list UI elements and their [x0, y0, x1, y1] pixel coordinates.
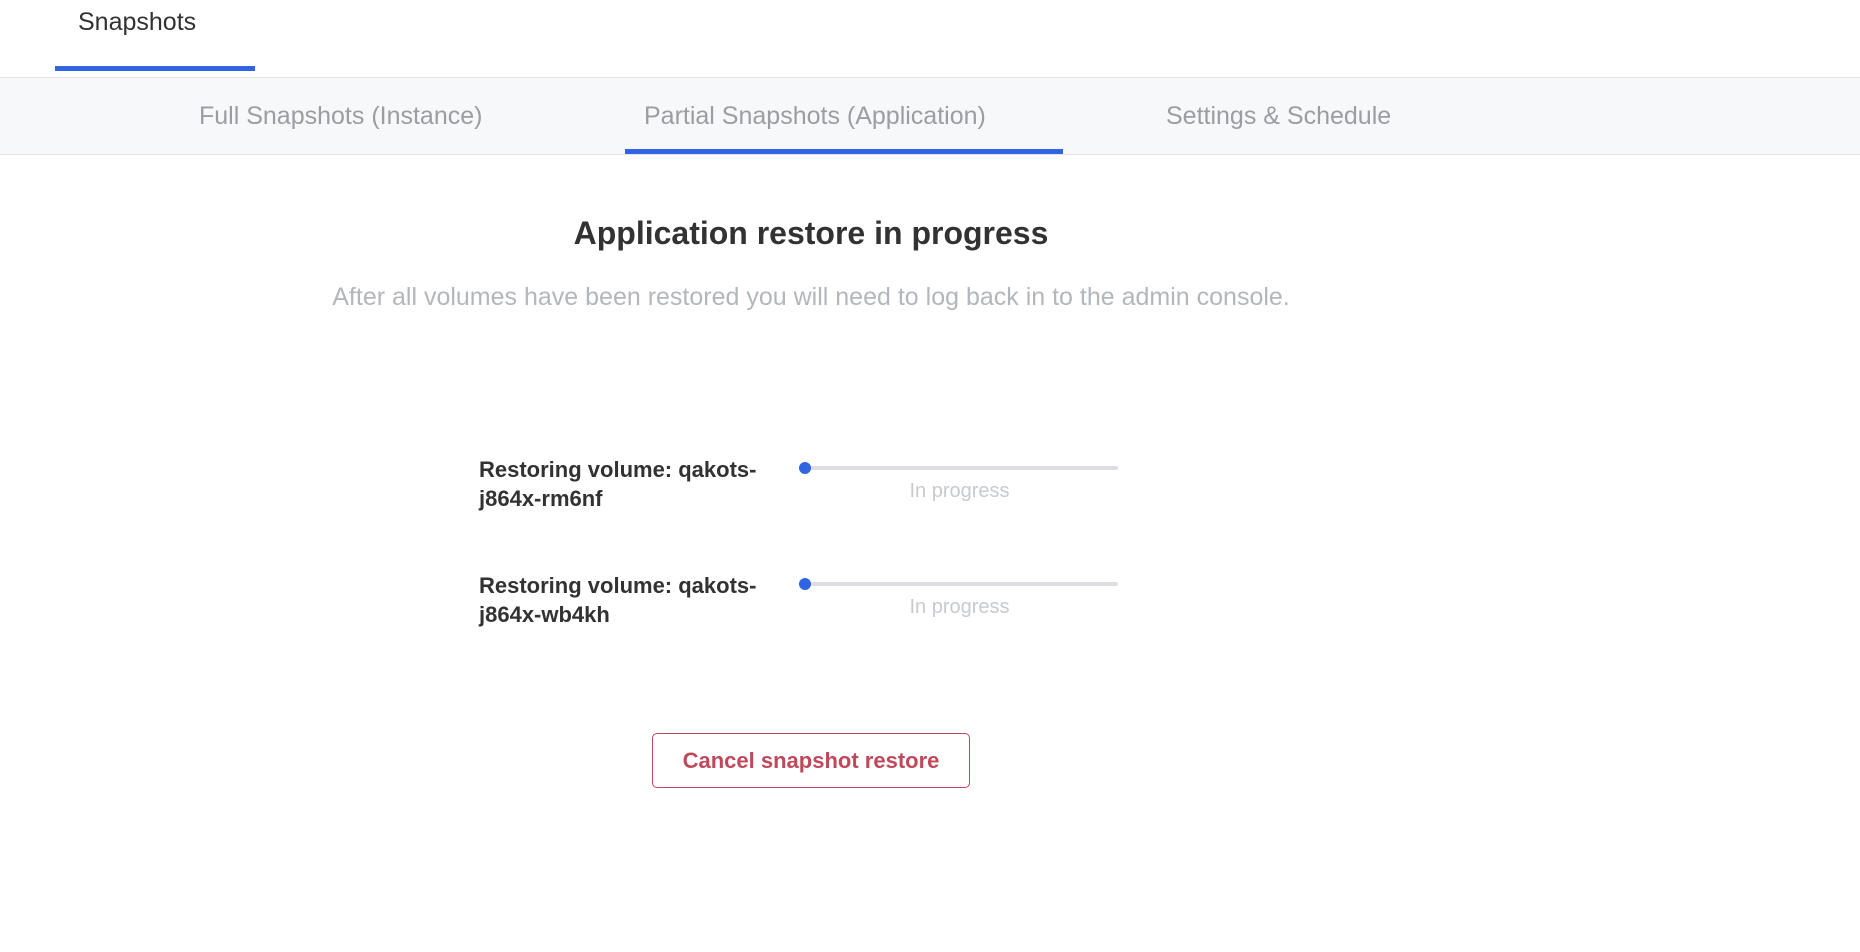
page-subtitle: After all volumes have been restored you… [0, 283, 1622, 312]
app-root: nt Snapshots Full Snapshots (Instance) P… [0, 0, 1860, 952]
subtab-partial-snapshots-application-label: Partial Snapshots (Application) [644, 102, 986, 131]
progress-indicator-dot [799, 578, 811, 590]
restore-volume-row: Restoring volume: qakots-j864x-wb4kh In … [479, 571, 1179, 687]
restore-volume-progress: In progress [801, 455, 1121, 503]
restore-volume-label: Restoring volume: qakots-j864x-wb4kh [479, 571, 799, 629]
progress-track [801, 466, 1118, 470]
cancel-button-wrap: Cancel snapshot restore [0, 733, 1622, 788]
cancel-snapshot-restore-button[interactable]: Cancel snapshot restore [652, 733, 971, 788]
progress-track [801, 582, 1118, 586]
secondary-nav: Full Snapshots (Instance) Partial Snapsh… [0, 78, 1860, 155]
restore-volume-row: Restoring volume: qakots-j864x-rm6nf In … [479, 455, 1179, 571]
progress-indicator-dot [799, 462, 811, 474]
subtab-full-snapshots-instance[interactable]: Full Snapshots (Instance) [199, 78, 482, 154]
restore-volume-label: Restoring volume: qakots-j864x-rm6nf [479, 455, 799, 513]
subtab-full-snapshots-instance-label: Full Snapshots (Instance) [199, 102, 482, 131]
tab-snapshots-label: Snapshots [78, 8, 196, 37]
page-title: Application restore in progress [0, 215, 1622, 252]
primary-nav: nt Snapshots [0, 0, 1860, 78]
subtab-active-underline [625, 149, 1063, 154]
subtab-settings-schedule-label: Settings & Schedule [1166, 102, 1391, 131]
main-content: Application restore in progress After al… [0, 155, 1860, 952]
primary-nav-inner: nt Snapshots [0, 0, 1860, 77]
subtab-settings-schedule[interactable]: Settings & Schedule [1166, 78, 1391, 154]
progress-status-label: In progress [801, 596, 1118, 619]
restore-volume-progress: In progress [801, 571, 1121, 619]
progress-status-label: In progress [801, 480, 1118, 503]
subtab-partial-snapshots-application[interactable]: Partial Snapshots (Application) [644, 78, 986, 154]
restore-volume-list: Restoring volume: qakots-j864x-rm6nf In … [479, 455, 1179, 687]
tab-snapshots-active-underline [55, 66, 255, 71]
